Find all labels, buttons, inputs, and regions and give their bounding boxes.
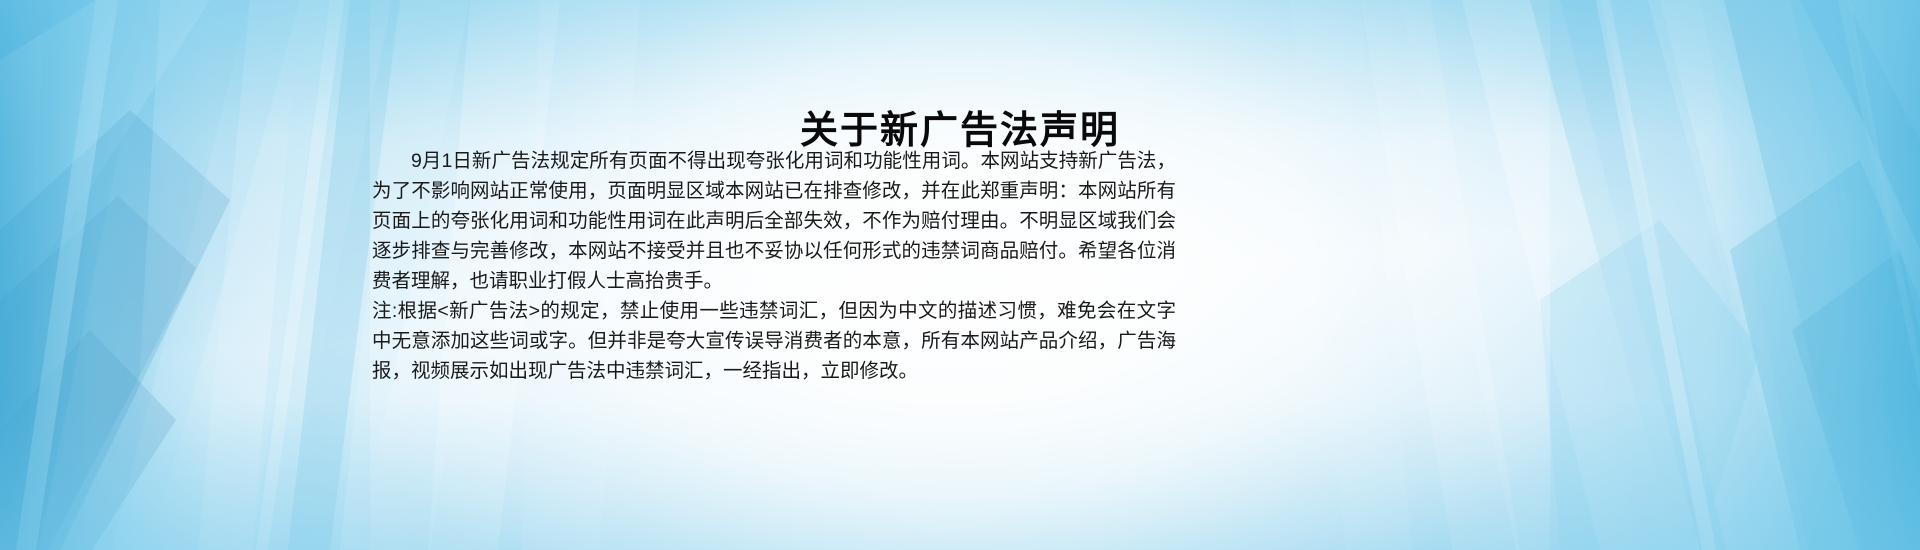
statement-body: 9月1日新广告法规定所有页面不得出现夸张化用词和功能性用词。本网站支持新广告法，… — [372, 146, 1176, 386]
statement-content: 关于新广告法声明 9月1日新广告法规定所有页面不得出现夸张化用词和功能性用词。本… — [0, 0, 1920, 550]
banner-canvas: 关于新广告法声明 9月1日新广告法规定所有页面不得出现夸张化用词和功能性用词。本… — [0, 0, 1920, 550]
statement-paragraph-2: 注:根据<新广告法>的规定，禁止使用一些违禁词汇，但因为中文的描述习惯，难免会在… — [372, 296, 1176, 386]
statement-paragraph-1: 9月1日新广告法规定所有页面不得出现夸张化用词和功能性用词。本网站支持新广告法，… — [372, 146, 1176, 296]
